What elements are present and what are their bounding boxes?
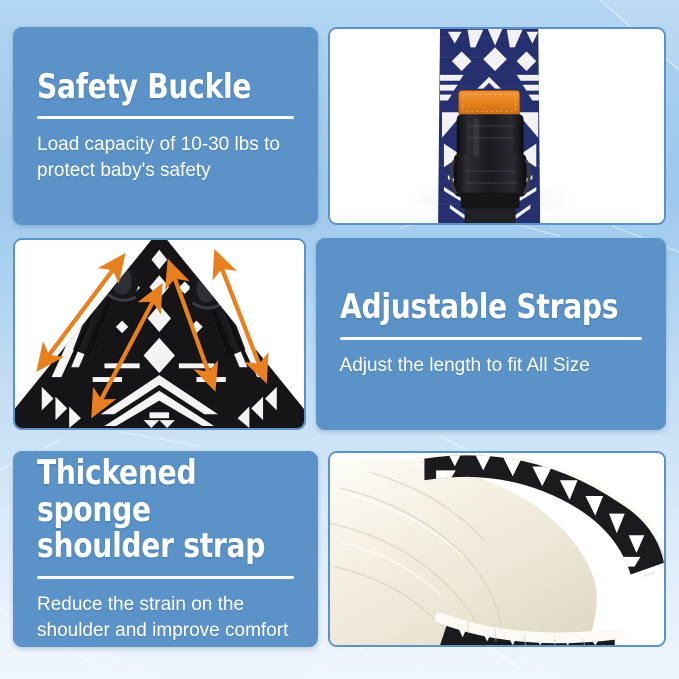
photo-adjustable-straps	[15, 240, 304, 428]
feature-row-adjustable-straps: Adjustable Straps Adjust the length to f…	[0, 238, 679, 430]
product-feature-infographic: Safety Buckle Load capacity of 10-30 lbs…	[0, 0, 679, 679]
feature-text-panel-shoulder-strap: Thickened sponge shoulder strap Reduce t…	[13, 451, 318, 647]
side-release-buckle	[451, 114, 530, 223]
photo-shoulder-strap-padding	[330, 453, 664, 645]
feature-image-card-shoulder-strap	[328, 451, 666, 647]
feature-row-safety-buckle: Safety Buckle Load capacity of 10-30 lbs…	[0, 27, 679, 225]
feature-text-panel-adjustable-straps: Adjustable Straps Adjust the length to f…	[316, 238, 666, 430]
row-spacer	[318, 27, 328, 225]
orange-leather-tab	[459, 91, 520, 116]
feature-image-card-adjustable-straps	[13, 238, 306, 430]
feature-body-safety-buckle: Load capacity of 10-30 lbs to protect ba…	[37, 132, 294, 183]
feature-heading-shoulder-strap: Thickened sponge shoulder strap	[37, 455, 273, 565]
feature-heading-adjustable-straps: Adjustable Straps	[340, 289, 618, 326]
feature-row-thickened-sponge-shoulder-strap: Thickened sponge shoulder strap Reduce t…	[0, 451, 679, 647]
feature-heading-safety-buckle: Safety Buckle	[37, 69, 273, 106]
heading-divider	[37, 116, 294, 119]
photo-safety-buckle	[330, 29, 664, 223]
row-spacer	[318, 451, 328, 647]
feature-text-panel-safety-buckle: Safety Buckle Load capacity of 10-30 lbs…	[13, 27, 318, 225]
heading-divider	[37, 576, 294, 579]
feature-image-card-safety-buckle	[328, 27, 666, 225]
heading-divider	[340, 337, 642, 340]
row-spacer	[306, 238, 316, 430]
feature-body-adjustable-straps: Adjust the length to fit All Size	[340, 353, 642, 378]
feature-body-shoulder-strap: Reduce the strain on the shoulder and im…	[37, 592, 294, 643]
